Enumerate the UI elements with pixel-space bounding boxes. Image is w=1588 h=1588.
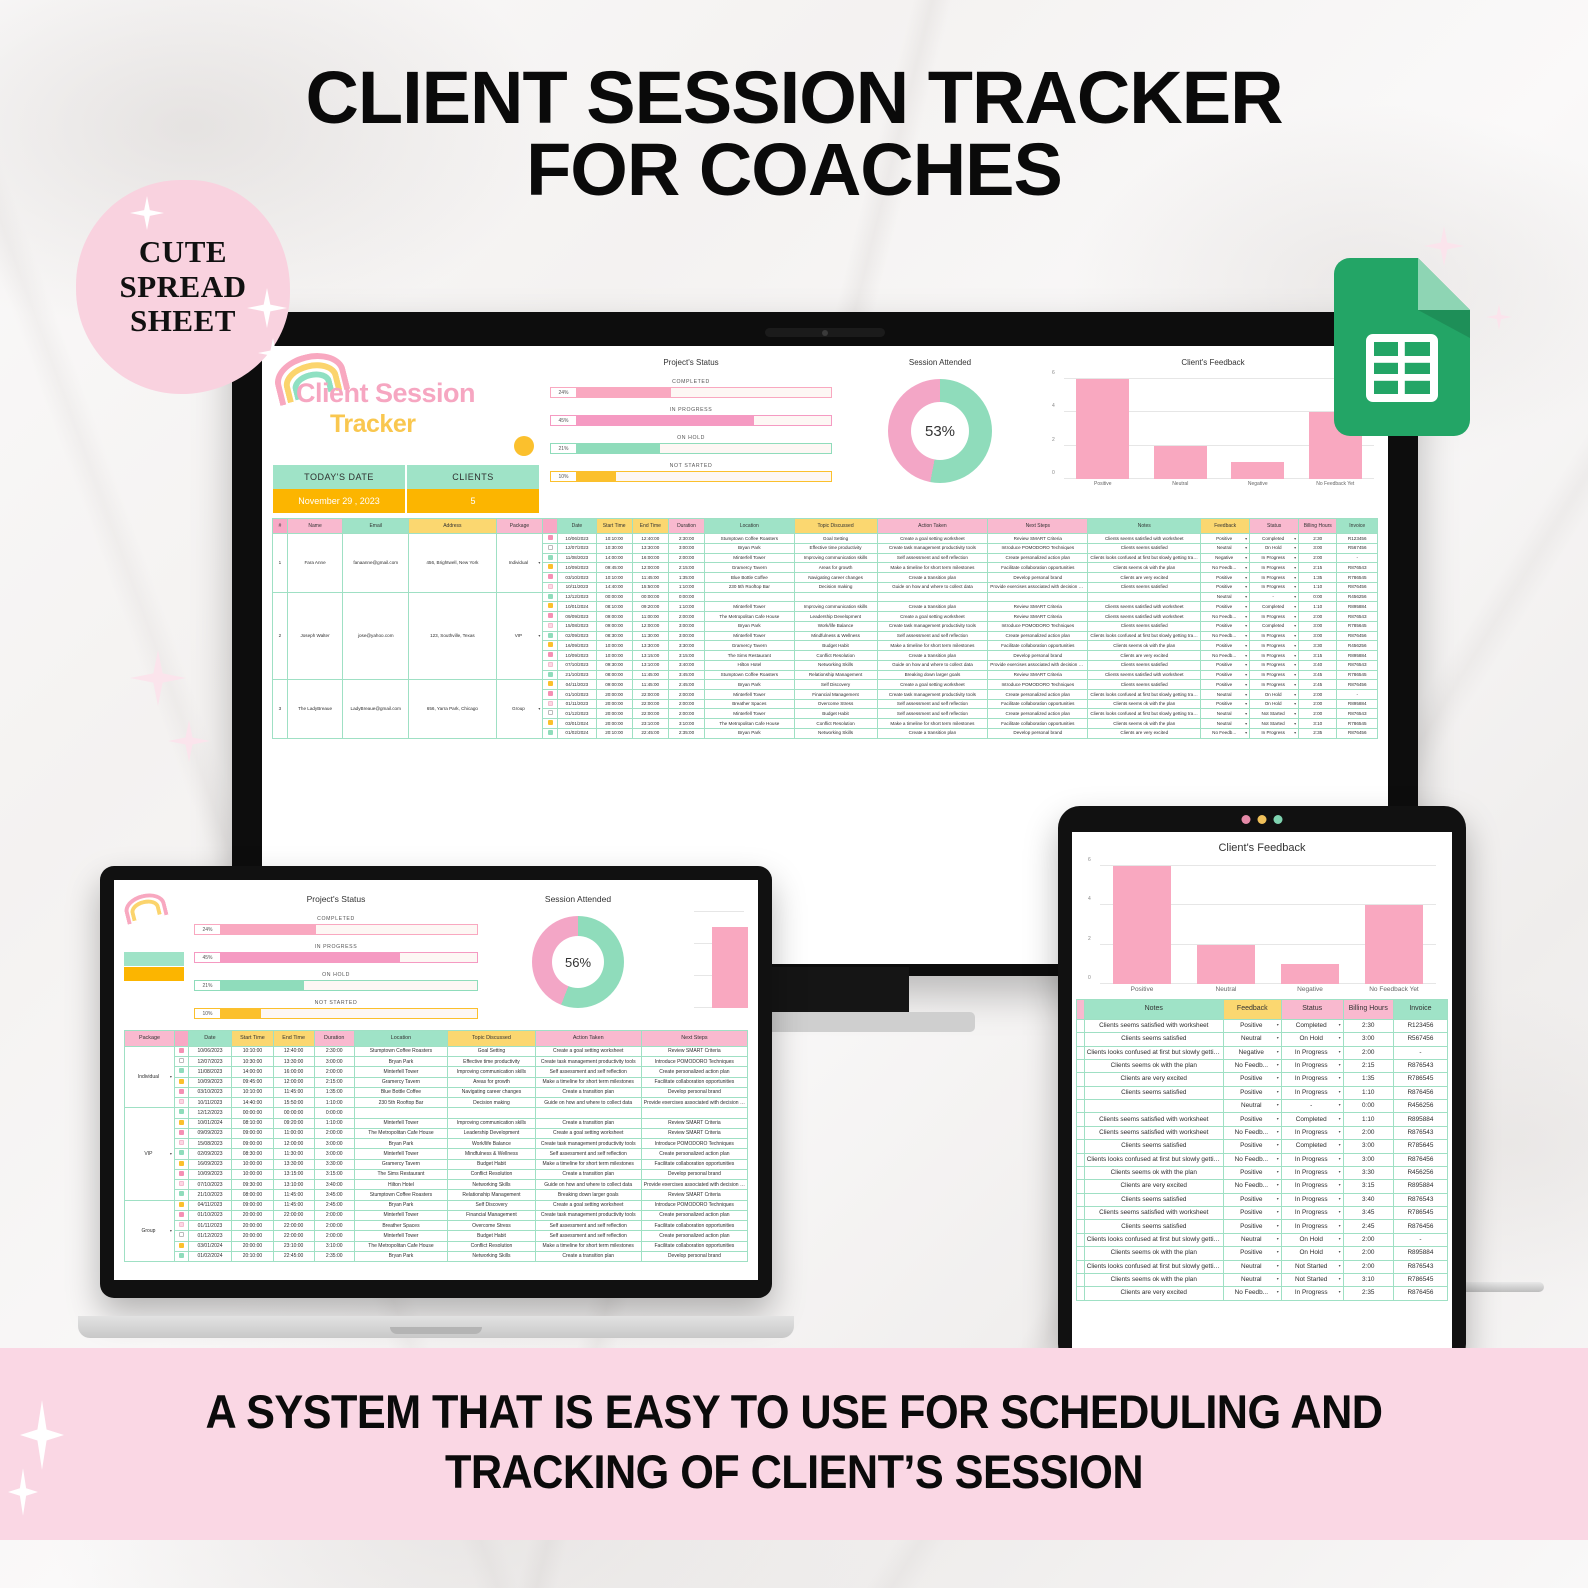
table-cell[interactable]: Work/life Balance xyxy=(448,1139,535,1149)
table-cell[interactable]: In Progress xyxy=(1250,573,1299,583)
table-cell[interactable]: No Feedb... xyxy=(1223,1126,1281,1139)
table-cell[interactable]: Breather Spaces xyxy=(705,699,794,709)
column-header[interactable]: End Time xyxy=(632,519,668,534)
table-cell[interactable]: The Metropolitan Cafe House xyxy=(354,1128,448,1138)
table-cell[interactable]: Self assessment and self reflection xyxy=(535,1149,641,1159)
table-cell[interactable]: Clients seems satisfied xyxy=(1084,1033,1223,1046)
table-row[interactable]: Clients seems ok with the planNeutralNot… xyxy=(1077,1273,1448,1286)
table-cell[interactable]: In Progress xyxy=(1281,1046,1343,1059)
table-cell[interactable]: Self assessment and self reflection xyxy=(877,631,988,641)
table-cell[interactable]: R895884 xyxy=(1337,651,1378,661)
table-cell[interactable]: R876543 xyxy=(1393,1193,1447,1206)
table-cell[interactable]: Review SMART Criteria xyxy=(988,612,1088,622)
table-cell[interactable]: Conflict Resolution xyxy=(794,719,877,729)
client-email[interactable]: fanaanne@gmail.com xyxy=(343,534,409,592)
table-cell[interactable]: 10/06/2023 xyxy=(558,534,596,544)
table-cell[interactable]: Improving communication skills xyxy=(794,602,877,612)
table-cell[interactable]: 20:00:00 xyxy=(596,690,632,700)
table-cell[interactable]: Budget Habit xyxy=(794,641,877,651)
table-cell[interactable]: 12/07/2023 xyxy=(188,1057,232,1067)
table-row[interactable]: Clients seems satisfiedPositiveCompleted… xyxy=(1077,1140,1448,1153)
table-cell[interactable]: 3:00 xyxy=(1299,631,1337,641)
table-cell[interactable]: 2:15:00 xyxy=(668,563,704,573)
table-row[interactable]: 07/10/202309:30:0013:10:003:40:00Hilton … xyxy=(125,1180,748,1190)
table-cell[interactable]: 10:10:00 xyxy=(596,573,632,583)
table-cell[interactable]: R876456 xyxy=(1393,1220,1447,1233)
table-cell[interactable]: 1:35:00 xyxy=(314,1087,354,1097)
table-cell[interactable]: 09/09/2023 xyxy=(558,612,596,622)
table-cell[interactable]: Positive xyxy=(1201,680,1250,690)
checkbox-icon[interactable] xyxy=(548,642,553,647)
table-cell[interactable]: Clients seems ok with the plan xyxy=(1088,699,1201,709)
table-cell[interactable]: Completed xyxy=(1281,1140,1343,1153)
table-cell[interactable]: 10/09/2023 xyxy=(188,1169,232,1179)
table-row[interactable]: 16/09/202310:00:0013:30:003:30:00Gramerc… xyxy=(125,1159,748,1169)
table-cell[interactable]: - xyxy=(1337,553,1378,563)
column-header[interactable]: Location xyxy=(705,519,794,534)
table-cell[interactable]: Clients seems ok with the plan xyxy=(1088,719,1201,729)
table-cell[interactable]: 20:00:00 xyxy=(232,1221,273,1231)
table-cell[interactable]: Completed xyxy=(1250,534,1299,544)
table-cell[interactable]: 13:10:00 xyxy=(632,660,668,670)
table-cell[interactable]: Self assessment and self reflection xyxy=(877,699,988,709)
column-header[interactable]: Name xyxy=(287,519,342,534)
table-cell[interactable]: R876456 xyxy=(1337,728,1378,738)
table-cell[interactable]: Leadership Development xyxy=(794,612,877,622)
table-cell[interactable]: Goal Setting xyxy=(794,534,877,544)
table-cell[interactable]: Make a timeline for short term milestone… xyxy=(535,1159,641,1169)
table-cell[interactable]: 13:30:00 xyxy=(273,1159,314,1169)
table-cell[interactable]: Clients are very excited xyxy=(1088,573,1201,583)
table-cell[interactable]: Provide exercises associated with decisi… xyxy=(641,1180,747,1190)
table-cell[interactable]: 22:00:00 xyxy=(632,699,668,709)
table-cell[interactable]: 20:00:00 xyxy=(596,699,632,709)
table-cell[interactable]: Positive xyxy=(1201,699,1250,709)
table-cell[interactable]: R786545 xyxy=(1393,1073,1447,1086)
table-cell-checkbox[interactable] xyxy=(174,1231,188,1241)
table-row[interactable]: Clients seems ok with the planPositiveIn… xyxy=(1077,1166,1448,1179)
table-cell[interactable]: R895884 xyxy=(1337,602,1378,612)
table-cell-checkbox[interactable] xyxy=(543,680,558,690)
table-row[interactable]: Clients seems satisfiedPositiveIn Progre… xyxy=(1077,1220,1448,1233)
table-cell[interactable]: R876543 xyxy=(1393,1059,1447,1072)
checkbox-icon[interactable] xyxy=(179,1222,184,1227)
table-row[interactable]: Clients seems ok with the planNo Feedb..… xyxy=(1077,1059,1448,1072)
table-cell[interactable] xyxy=(988,592,1088,602)
table-cell[interactable]: Positive xyxy=(1223,1140,1281,1153)
table-cell[interactable]: Review SMART Criteria xyxy=(988,534,1088,544)
table-cell[interactable]: 10:00:00 xyxy=(232,1169,273,1179)
client-name[interactable]: The LadyBreaue xyxy=(287,680,342,738)
table-cell[interactable]: Not Started xyxy=(1250,719,1299,729)
table-cell[interactable]: 2:00:00 xyxy=(314,1128,354,1138)
table-cell[interactable]: Facilitate collaboration opportunities xyxy=(988,641,1088,651)
checkbox-icon[interactable] xyxy=(548,545,553,550)
table-cell[interactable]: Clients seems satisfied with worksheet xyxy=(1088,612,1201,622)
table-row[interactable]: 01/10/202320:00:0022:00:002:00:00Minterf… xyxy=(125,1210,748,1220)
checkbox-icon[interactable] xyxy=(548,584,553,589)
table-cell[interactable]: Improving communication skills xyxy=(794,553,877,563)
laptop-session-table[interactable]: PackageDateStart TimeEnd TimeDurationLoc… xyxy=(124,1030,748,1262)
table-cell[interactable]: Create a transition plan xyxy=(877,728,988,738)
table-row[interactable]: 21/10/202308:00:0011:45:003:45:00Stumpto… xyxy=(125,1190,748,1200)
table-cell[interactable]: Neutral xyxy=(1201,543,1250,553)
table-cell[interactable]: 10:10:00 xyxy=(232,1087,273,1097)
table-cell[interactable]: R786545 xyxy=(1337,573,1378,583)
table-cell[interactable]: Clients seems ok with the plan xyxy=(1088,641,1201,651)
client-number[interactable]: 1 xyxy=(273,534,288,592)
table-cell[interactable]: 11:45:00 xyxy=(273,1190,314,1200)
table-cell[interactable]: 1:10:00 xyxy=(668,582,704,592)
table-cell[interactable]: 2:00:00 xyxy=(668,699,704,709)
table-cell[interactable]: 12:00:00 xyxy=(273,1077,314,1087)
table-cell[interactable]: Clients seems satisfied with worksheet xyxy=(1084,1207,1223,1220)
table-cell[interactable]: Clients are very excited xyxy=(1084,1287,1223,1300)
table-cell[interactable]: No Feedb... xyxy=(1201,651,1250,661)
table-cell[interactable]: R895884 xyxy=(1393,1180,1447,1193)
table-cell[interactable]: 09:00:00 xyxy=(596,680,632,690)
checkbox-icon[interactable] xyxy=(548,613,553,618)
table-cell[interactable]: 11:45:00 xyxy=(632,680,668,690)
table-cell[interactable]: In Progress xyxy=(1281,1153,1343,1166)
checkbox-icon[interactable] xyxy=(548,555,553,560)
clients-value[interactable]: 5 xyxy=(407,489,539,513)
table-cell[interactable]: 20:00:00 xyxy=(596,719,632,729)
table-cell[interactable]: R895884 xyxy=(1393,1113,1447,1126)
table-cell-checkbox[interactable] xyxy=(174,1118,188,1128)
table-cell[interactable]: 11:00:00 xyxy=(273,1128,314,1138)
checkbox-icon[interactable] xyxy=(548,633,553,638)
table-cell[interactable]: 3:40 xyxy=(1299,660,1337,670)
table-cell[interactable]: 07/10/2023 xyxy=(558,660,596,670)
client-email[interactable]: jose@yahoo.com xyxy=(343,592,409,680)
table-cell-checkbox[interactable] xyxy=(174,1046,188,1056)
checkbox-icon[interactable] xyxy=(179,1109,184,1114)
table-cell[interactable]: Decision making xyxy=(794,582,877,592)
checkbox-icon[interactable] xyxy=(179,1212,184,1217)
table-cell[interactable]: In Progress xyxy=(1281,1287,1343,1300)
table-cell-checkbox[interactable] xyxy=(543,709,558,719)
table-cell[interactable]: Provide exercises associated with decisi… xyxy=(988,660,1088,670)
table-cell[interactable]: Create a goal setting worksheet xyxy=(535,1046,641,1056)
table-cell[interactable]: 230 5th Rooftop Bar xyxy=(354,1098,448,1108)
table-cell[interactable]: In Progress xyxy=(1281,1207,1343,1220)
table-cell[interactable]: 13:30:00 xyxy=(632,641,668,651)
table-cell[interactable]: Introduce POMODORO Techniques xyxy=(641,1057,747,1067)
checkbox-icon[interactable] xyxy=(548,730,553,735)
client-package[interactable]: Individual xyxy=(125,1046,175,1108)
table-cell[interactable]: The Sims Restaurant xyxy=(354,1169,448,1179)
table-cell[interactable]: 15:50:00 xyxy=(632,582,668,592)
table-cell[interactable]: Positive xyxy=(1201,670,1250,680)
table-cell-checkbox[interactable] xyxy=(174,1077,188,1087)
table-cell[interactable]: Facilitate collaboration opportunities xyxy=(641,1221,747,1231)
client-package[interactable]: Group xyxy=(125,1200,175,1262)
table-cell[interactable]: In Progress xyxy=(1281,1220,1343,1233)
table-cell[interactable]: Gramercy Tavern xyxy=(354,1077,448,1087)
table-cell[interactable]: Clients seems satisfied xyxy=(1084,1193,1223,1206)
column-header[interactable] xyxy=(174,1031,188,1047)
table-cell[interactable]: Neutral xyxy=(1223,1033,1281,1046)
table-cell[interactable]: Networking Skills xyxy=(448,1251,535,1261)
column-header[interactable]: Feedback xyxy=(1223,1000,1281,1020)
column-header[interactable]: Start Time xyxy=(596,519,632,534)
table-cell-checkbox[interactable] xyxy=(174,1067,188,1077)
table-cell[interactable]: 2:00:00 xyxy=(314,1210,354,1220)
table-cell[interactable]: Negative xyxy=(1223,1046,1281,1059)
table-cell[interactable]: 1:10 xyxy=(1299,582,1337,592)
table-cell[interactable]: No Feedb... xyxy=(1223,1287,1281,1300)
table-cell[interactable]: 10/09/2023 xyxy=(188,1077,232,1087)
table-cell[interactable]: Clients looks confused at first but slow… xyxy=(1084,1260,1223,1273)
table-cell[interactable]: Create a goal setting worksheet xyxy=(535,1200,641,1210)
table-cell-checkbox[interactable] xyxy=(543,543,558,553)
table-cell[interactable]: Positive xyxy=(1201,573,1250,583)
table-cell[interactable]: 3:10:00 xyxy=(314,1241,354,1251)
table-cell-checkbox[interactable] xyxy=(174,1149,188,1159)
table-cell[interactable]: Minterfell Tower xyxy=(354,1067,448,1077)
table-cell[interactable]: Create a transition plan xyxy=(535,1251,641,1261)
table-cell[interactable]: Mindfulness & Wellness xyxy=(794,631,877,641)
table-cell-checkbox[interactable] xyxy=(174,1098,188,1108)
table-cell[interactable]: No Feedb... xyxy=(1223,1180,1281,1193)
table-cell[interactable]: Review SMART Criteria xyxy=(988,670,1088,680)
table-cell[interactable]: Positive xyxy=(1201,582,1250,592)
table-cell[interactable]: Stumptown Coffee Roasters xyxy=(354,1190,448,1200)
table-cell-checkbox[interactable] xyxy=(543,670,558,680)
table-cell[interactable]: 1:35 xyxy=(1299,573,1337,583)
table-row[interactable]: Clients seems satisfiedNeutralOn Hold3:0… xyxy=(1077,1033,1448,1046)
table-cell[interactable]: Self assessment and self reflection xyxy=(535,1067,641,1077)
table-cell[interactable]: R786545 xyxy=(1393,1207,1447,1220)
table-cell[interactable]: Positive xyxy=(1223,1019,1281,1032)
table-cell[interactable]: 2:30 xyxy=(1299,534,1337,544)
table-cell[interactable]: 01/11/2023 xyxy=(558,699,596,709)
table-cell[interactable]: Decision making xyxy=(448,1098,535,1108)
table-cell[interactable]: On Hold xyxy=(1281,1033,1343,1046)
table-cell[interactable]: Create a goal setting worksheet xyxy=(877,680,988,690)
table-cell[interactable]: 1:10 xyxy=(1343,1113,1393,1126)
table-row[interactable]: Clients are very excitedNo Feedb...In Pr… xyxy=(1077,1287,1448,1300)
table-cell[interactable]: Gramercy Tavern xyxy=(705,563,794,573)
table-cell[interactable]: 3:30:00 xyxy=(314,1159,354,1169)
table-cell[interactable]: Budget Habit xyxy=(794,709,877,719)
table-cell[interactable]: Navigating career changes xyxy=(448,1087,535,1097)
table-cell[interactable]: The Metropolitan Cafe House xyxy=(705,612,794,622)
table-cell[interactable]: 3:30 xyxy=(1299,641,1337,651)
table-cell[interactable]: 10/09/2023 xyxy=(558,651,596,661)
table-cell[interactable]: In Progress xyxy=(1281,1166,1343,1179)
table-cell[interactable]: 16/09/2023 xyxy=(188,1159,232,1169)
table-cell[interactable]: 10/06/2023 xyxy=(188,1046,232,1056)
table-cell[interactable]: Facilitate collaboration opportunities xyxy=(641,1241,747,1251)
table-cell[interactable]: In Progress xyxy=(1250,631,1299,641)
table-cell[interactable]: Develop personal brand xyxy=(988,728,1088,738)
table-cell[interactable]: Clients seems satisfied with worksheet xyxy=(1084,1126,1223,1139)
table-cell-checkbox[interactable] xyxy=(543,690,558,700)
table-cell[interactable]: 03/10/2023 xyxy=(558,573,596,583)
checkbox-icon[interactable] xyxy=(179,1191,184,1196)
checkbox-icon[interactable] xyxy=(179,1243,184,1248)
table-cell[interactable]: 1:10:00 xyxy=(314,1098,354,1108)
checkbox-icon[interactable] xyxy=(548,623,553,628)
table-cell[interactable]: 2:00:00 xyxy=(668,709,704,719)
table-cell[interactable]: Positive xyxy=(1201,534,1250,544)
table-cell[interactable]: Guide on how and where to collect data xyxy=(877,582,988,592)
table-cell[interactable]: Areas for growth xyxy=(794,563,877,573)
table-cell[interactable]: 20:00:00 xyxy=(232,1210,273,1220)
table-cell[interactable]: 2:00:00 xyxy=(314,1231,354,1241)
column-header[interactable]: Topic Discussed xyxy=(448,1031,535,1047)
table-cell-checkbox[interactable] xyxy=(543,699,558,709)
table-cell[interactable]: Develop personal brand xyxy=(641,1169,747,1179)
table-cell-checkbox[interactable] xyxy=(543,631,558,641)
table-cell[interactable]: Clients seems satisfied xyxy=(1088,582,1201,592)
table-cell[interactable]: 1:35:00 xyxy=(668,573,704,583)
table-cell[interactable]: R876456 xyxy=(1393,1287,1447,1300)
table-cell[interactable]: Budget Habit xyxy=(448,1159,535,1169)
table-row[interactable]: Group04/11/202309:00:0011:45:002:45:00Br… xyxy=(125,1200,748,1210)
table-cell[interactable]: Clients seems ok with the plan xyxy=(1084,1247,1223,1260)
table-row[interactable]: 15/08/202309:00:0012:00:003:00:00Bryan P… xyxy=(125,1139,748,1149)
table-cell[interactable]: 10/01/2024 xyxy=(188,1118,232,1128)
table-cell[interactable]: 03/01/2024 xyxy=(188,1241,232,1251)
table-cell[interactable]: 09:00:00 xyxy=(232,1139,273,1149)
client-number[interactable]: 2 xyxy=(273,592,288,680)
table-cell[interactable]: On Hold xyxy=(1250,543,1299,553)
table-cell[interactable]: 2:00:00 xyxy=(668,553,704,563)
table-cell-checkbox[interactable] xyxy=(543,660,558,670)
table-cell[interactable]: Clients seems satisfied xyxy=(1088,543,1201,553)
checkbox-icon[interactable] xyxy=(548,535,553,540)
table-cell[interactable]: Guide on how and where to collect data xyxy=(535,1098,641,1108)
table-cell[interactable]: Develop personal brand xyxy=(988,573,1088,583)
checkbox-icon[interactable] xyxy=(548,564,553,569)
table-cell[interactable]: 2:00:00 xyxy=(668,690,704,700)
table-cell[interactable]: 12/12/2023 xyxy=(188,1108,232,1118)
table-cell[interactable]: R786545 xyxy=(1337,719,1378,729)
table-row[interactable]: Neutral-0:00R456256 xyxy=(1077,1100,1448,1113)
table-cell[interactable]: 21/10/2023 xyxy=(188,1190,232,1200)
table-cell[interactable]: 1:10:00 xyxy=(668,602,704,612)
column-header[interactable]: Invoice xyxy=(1337,519,1378,534)
column-header[interactable]: Package xyxy=(496,519,543,534)
table-cell-checkbox[interactable] xyxy=(174,1139,188,1149)
table-cell[interactable]: 2:00 xyxy=(1343,1126,1393,1139)
table-cell[interactable]: Review SMART Criteria xyxy=(641,1128,747,1138)
table-cell[interactable]: R876543 xyxy=(1393,1260,1447,1273)
table-cell[interactable]: Minterfell Tower xyxy=(705,553,794,563)
table-cell-checkbox[interactable] xyxy=(174,1221,188,1231)
table-cell-checkbox[interactable] xyxy=(174,1128,188,1138)
table-cell[interactable]: 09:00:00 xyxy=(596,612,632,622)
table-cell[interactable]: 3:30:00 xyxy=(668,641,704,651)
column-header[interactable]: Notes xyxy=(1088,519,1201,534)
table-cell[interactable]: Relationship Management xyxy=(448,1190,535,1200)
table-cell[interactable]: 01/10/2023 xyxy=(558,690,596,700)
client-package[interactable]: Individual xyxy=(496,534,543,592)
table-row[interactable]: 2Joseph Walterjose@yahoo.com123, Southvi… xyxy=(273,592,1378,602)
table-cell[interactable]: 3:15:00 xyxy=(314,1169,354,1179)
table-cell[interactable]: 13:30:00 xyxy=(273,1057,314,1067)
table-cell[interactable]: 0:00:00 xyxy=(668,592,704,602)
table-cell[interactable]: 01/10/2023 xyxy=(188,1210,232,1220)
table-cell[interactable]: R876543 xyxy=(1393,1126,1447,1139)
table-cell[interactable]: Develop personal brand xyxy=(641,1087,747,1097)
table-cell[interactable]: 08:10:00 xyxy=(596,602,632,612)
table-row[interactable]: Clients are very excitedPositiveIn Progr… xyxy=(1077,1073,1448,1086)
table-cell[interactable]: Create a transition plan xyxy=(535,1118,641,1128)
table-cell[interactable]: R456256 xyxy=(1337,641,1378,651)
table-cell[interactable]: 12:00:00 xyxy=(273,1139,314,1149)
table-cell[interactable]: 22:45:00 xyxy=(632,728,668,738)
checkbox-icon[interactable] xyxy=(179,1089,184,1094)
table-cell[interactable]: Make a timeline for short term milestone… xyxy=(535,1077,641,1087)
table-cell[interactable]: 2:00 xyxy=(1343,1046,1393,1059)
table-cell[interactable]: 1:35 xyxy=(1343,1073,1393,1086)
table-cell[interactable]: 3:00 xyxy=(1299,543,1337,553)
table-cell[interactable]: Minterfell Tower xyxy=(705,631,794,641)
table-cell[interactable]: Neutral xyxy=(1223,1273,1281,1286)
table-cell[interactable]: Not Started xyxy=(1250,709,1299,719)
table-cell[interactable]: Create task management productivity tool… xyxy=(877,621,988,631)
table-cell[interactable]: 11:45:00 xyxy=(273,1200,314,1210)
table-row[interactable]: Clients seems satisfied with worksheetNo… xyxy=(1077,1126,1448,1139)
table-cell[interactable]: Clients looks confused at first but slow… xyxy=(1084,1046,1223,1059)
table-cell[interactable]: Stumptown Coffee Roasters xyxy=(705,534,794,544)
table-cell[interactable]: 01/12/2023 xyxy=(188,1231,232,1241)
table-cell[interactable]: 14:40:00 xyxy=(596,582,632,592)
checkbox-icon[interactable] xyxy=(548,701,553,706)
table-cell[interactable]: - xyxy=(1393,1046,1447,1059)
table-cell[interactable]: 10/01/2024 xyxy=(558,602,596,612)
table-cell[interactable]: Neutral xyxy=(1223,1260,1281,1273)
table-cell[interactable]: 15/08/2023 xyxy=(558,621,596,631)
table-cell[interactable]: Conflict Resolution xyxy=(448,1169,535,1179)
table-cell[interactable]: Positive xyxy=(1223,1247,1281,1260)
table-row[interactable]: 03/10/202310:10:0011:45:001:35:00Blue Bo… xyxy=(125,1087,748,1097)
table-cell[interactable]: 3:40:00 xyxy=(314,1180,354,1190)
table-row[interactable]: Clients looks confused at first but slow… xyxy=(1077,1153,1448,1166)
table-cell-checkbox[interactable] xyxy=(174,1169,188,1179)
table-cell[interactable]: Create a goal setting worksheet xyxy=(877,534,988,544)
table-row[interactable]: Clients are very excitedNo Feedb...In Pr… xyxy=(1077,1180,1448,1193)
table-cell[interactable]: 03/01/2024 xyxy=(558,719,596,729)
table-cell[interactable] xyxy=(535,1108,641,1118)
table-cell[interactable]: Positive xyxy=(1223,1086,1281,1099)
table-cell[interactable]: Clients seems satisfied with worksheet xyxy=(1088,534,1201,544)
table-cell[interactable]: 2:00:00 xyxy=(668,612,704,622)
table-cell[interactable]: No Feedb... xyxy=(1223,1153,1281,1166)
tablet-notes-table[interactable]: NotesFeedbackStatusBilling HoursInvoiceC… xyxy=(1076,999,1448,1301)
table-cell[interactable]: Introduce POMODORO Techniques xyxy=(988,680,1088,690)
table-cell[interactable]: R876456 xyxy=(1337,631,1378,641)
table-cell[interactable]: Financial Management xyxy=(794,690,877,700)
table-cell[interactable]: Gramercy Tavern xyxy=(705,641,794,651)
session-table[interactable]: #NameEmailAddressPackageDateStart TimeEn… xyxy=(272,518,1378,739)
table-cell[interactable]: Clients looks confused at first but slow… xyxy=(1088,631,1201,641)
table-cell[interactable]: R456256 xyxy=(1337,592,1378,602)
table-cell[interactable]: Create personalized action plan xyxy=(988,709,1088,719)
table-cell[interactable]: R786545 xyxy=(1337,670,1378,680)
table-cell[interactable]: 3:00:00 xyxy=(314,1057,354,1067)
column-header[interactable]: Start Time xyxy=(232,1031,273,1047)
table-cell[interactable]: 0:00 xyxy=(1343,1100,1393,1113)
table-cell[interactable]: 2:35:00 xyxy=(668,728,704,738)
table-cell[interactable]: Breaking down larger goals xyxy=(877,670,988,680)
table-cell[interactable]: Create task management productivity tool… xyxy=(877,690,988,700)
table-cell[interactable]: 2:45:00 xyxy=(668,680,704,690)
